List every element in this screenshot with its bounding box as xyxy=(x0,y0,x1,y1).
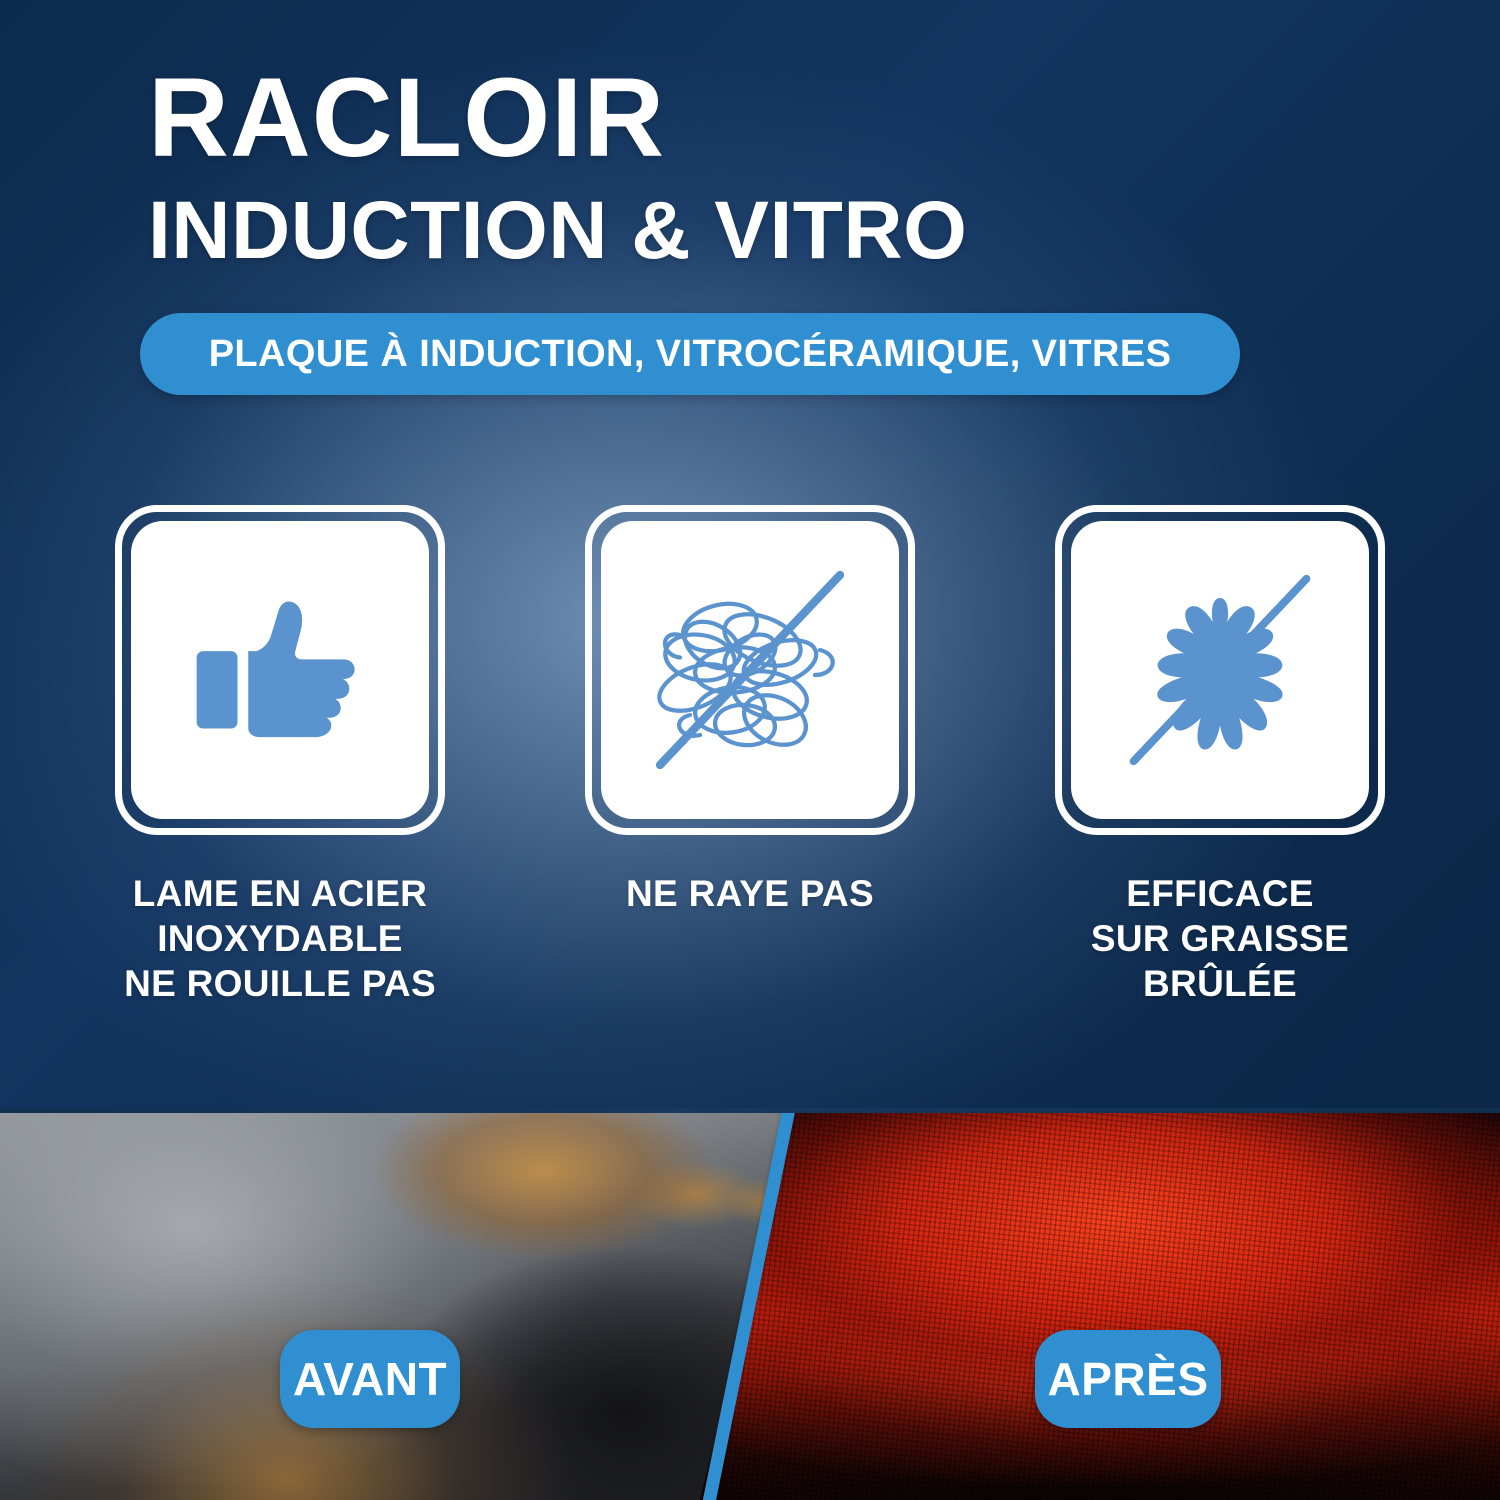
after-label-text: APRÈS xyxy=(1048,1352,1209,1406)
no-scratch-scribble-icon xyxy=(625,545,875,795)
surface-types-badge-label: PLAQUE À INDUCTION, VITROCÉRAMIQUE, VITR… xyxy=(209,333,1172,376)
icon-card-3-inner xyxy=(1071,521,1369,819)
feature-row: LAME EN ACIER INOXYDABLE NE ROUILLE PAS xyxy=(0,505,1500,1006)
top-panel: RACLOIR INDUCTION & VITRO PLAQUE À INDUC… xyxy=(0,0,1500,1108)
surface-types-badge: PLAQUE À INDUCTION, VITROCÉRAMIQUE, VITR… xyxy=(140,313,1240,395)
before-after-comparison xyxy=(0,1108,1500,1500)
feature-label-3: EFFICACE SUR GRAISSE BRÛLÉE xyxy=(1091,871,1349,1006)
feature-label-2: NE RAYE PAS xyxy=(626,871,874,916)
after-photo xyxy=(700,1108,1500,1500)
icon-card-3 xyxy=(1055,505,1385,835)
product-infographic: RACLOIR INDUCTION & VITRO PLAQUE À INDUC… xyxy=(0,0,1500,1500)
no-grease-splat-icon xyxy=(1100,550,1340,790)
thumbs-up-icon xyxy=(173,563,388,778)
after-label-pill: APRÈS xyxy=(1035,1330,1221,1428)
before-label-pill: AVANT xyxy=(280,1330,460,1428)
icon-card-2-inner xyxy=(601,521,899,819)
before-photo xyxy=(0,1108,800,1500)
compare-top-trim xyxy=(0,1108,1500,1113)
feature-item-stainless-blade: LAME EN ACIER INOXYDABLE NE ROUILLE PAS xyxy=(110,505,450,1006)
feature-label-1: LAME EN ACIER INOXYDABLE NE ROUILLE PAS xyxy=(124,871,436,1006)
icon-card-1-inner xyxy=(131,521,429,819)
icon-card-1 xyxy=(115,505,445,835)
page-subtitle: INDUCTION & VITRO xyxy=(148,188,1398,275)
headline-block: RACLOIR INDUCTION & VITRO xyxy=(148,62,1398,275)
page-title: RACLOIR xyxy=(148,62,1398,174)
before-label-text: AVANT xyxy=(293,1352,447,1406)
feature-item-burnt-grease: EFFICACE SUR GRAISSE BRÛLÉE xyxy=(1050,505,1390,1006)
feature-item-no-scratch: NE RAYE PAS xyxy=(580,505,920,1006)
icon-card-2 xyxy=(585,505,915,835)
